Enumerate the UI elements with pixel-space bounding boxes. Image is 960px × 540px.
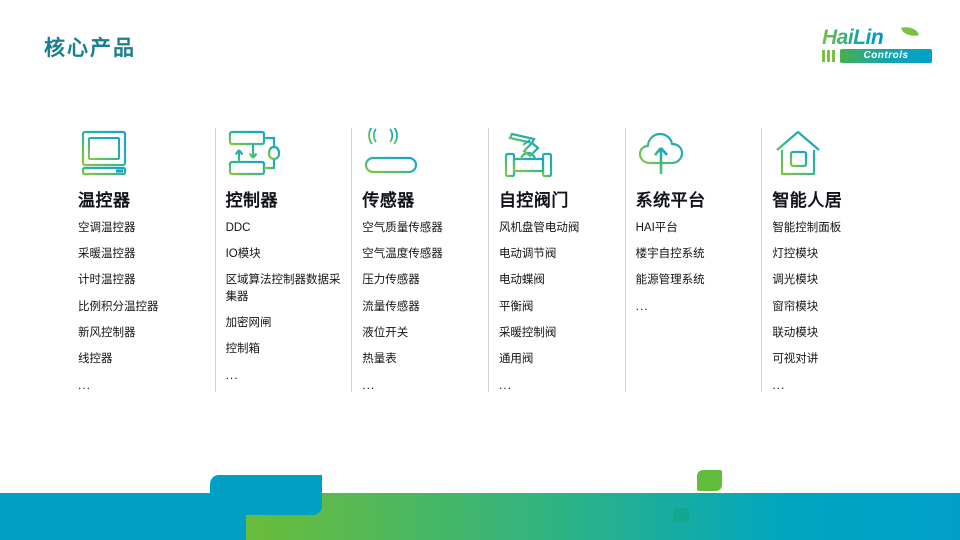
category-title: 自控阀门: [499, 192, 623, 211]
product-item[interactable]: 电动调节阀: [499, 246, 619, 262]
product-item[interactable]: 可视对讲: [772, 351, 892, 367]
product-item[interactable]: 智能控制面板: [772, 220, 892, 236]
leaf-icon: [901, 24, 919, 38]
page-title: 核心产品: [44, 38, 136, 59]
product-item[interactable]: 平衡阀: [499, 299, 619, 315]
product-item[interactable]: 比例积分温控器: [78, 299, 198, 315]
footer-green-square: [697, 470, 722, 491]
smart-home-chip-icon: [772, 128, 896, 186]
product-item[interactable]: IO模块: [226, 246, 346, 262]
logo-bars-icon: [822, 50, 835, 62]
category-column-controller[interactable]: 控制器 DDC IO模块 区域算法控制器数据采集器 加密网闸 控制箱 ...: [215, 128, 352, 392]
footer-small-teal-square: [673, 508, 689, 522]
product-item[interactable]: 采暖温控器: [78, 246, 198, 262]
more-indicator: ...: [636, 299, 760, 313]
logo-tagline-plate: Controls: [840, 49, 932, 63]
category-column-valve[interactable]: 自控阀门 风机盘管电动阀 电动调节阀 电动蝶阀 平衡阀 采暖控制阀 通用阀 ..…: [488, 128, 625, 392]
category-column-thermostat[interactable]: 温控器 空调温控器 采暖温控器 计时温控器 比例积分温控器 新风控制器 线控器 …: [78, 128, 215, 392]
category-title: 系统平台: [636, 192, 760, 211]
product-item[interactable]: 区域算法控制器数据采集器: [226, 272, 346, 305]
product-item[interactable]: 楼宇自控系统: [636, 246, 756, 262]
more-indicator: ...: [499, 378, 623, 392]
category-column-sensor[interactable]: 传感器 空气质量传感器 空气温度传感器 压力传感器 流量传感器 液位开关 热量表…: [351, 128, 488, 392]
product-item[interactable]: 新风控制器: [78, 325, 198, 341]
category-column-platform[interactable]: 系统平台 HAI平台 楼宇自控系统 能源管理系统 ...: [625, 128, 762, 392]
category-title: 控制器: [226, 192, 350, 211]
product-item[interactable]: DDC: [226, 220, 346, 236]
product-category-columns: 温控器 空调温控器 采暖温控器 计时温控器 比例积分温控器 新风控制器 线控器 …: [78, 128, 898, 392]
product-item[interactable]: 采暖控制阀: [499, 325, 619, 341]
control-valve-icon: [499, 128, 623, 186]
product-item[interactable]: 电动蝶阀: [499, 272, 619, 288]
category-title: 智能人居: [772, 192, 896, 211]
product-item[interactable]: HAI平台: [636, 220, 756, 236]
controller-rack-icon: [226, 128, 350, 186]
product-item[interactable]: 控制箱: [226, 341, 346, 357]
product-item[interactable]: 空调温控器: [78, 220, 198, 236]
product-item[interactable]: 空气质量传感器: [362, 220, 482, 236]
product-item[interactable]: 液位开关: [362, 325, 482, 341]
more-indicator: ...: [362, 378, 486, 392]
product-item[interactable]: 通用阀: [499, 351, 619, 367]
logo-tagline: Controls: [840, 49, 932, 63]
product-item[interactable]: 联动模块: [772, 325, 892, 341]
more-indicator: ...: [226, 368, 350, 382]
more-indicator: ...: [78, 378, 213, 392]
wireless-sensor-icon: [362, 128, 486, 186]
product-item[interactable]: 加密网闸: [226, 315, 346, 331]
product-item[interactable]: 灯控模块: [772, 246, 892, 262]
product-item[interactable]: 调光模块: [772, 272, 892, 288]
product-item[interactable]: 线控器: [78, 351, 198, 367]
footer-teal-tab: [210, 475, 322, 515]
thermostat-monitor-icon: [78, 128, 213, 186]
product-item[interactable]: 空气温度传感器: [362, 246, 482, 262]
category-column-smart-home[interactable]: 智能人居 智能控制面板 灯控模块 调光模块 窗帘模块 联动模块 可视对讲 ...: [761, 128, 898, 392]
product-item[interactable]: 窗帘模块: [772, 299, 892, 315]
product-item[interactable]: 流量传感器: [362, 299, 482, 315]
brand-logo: HaiLin Controls: [814, 27, 932, 69]
category-title: 温控器: [78, 192, 213, 211]
category-title: 传感器: [362, 192, 486, 211]
product-item[interactable]: 能源管理系统: [636, 272, 756, 288]
cloud-upload-icon: [636, 128, 760, 186]
product-item[interactable]: 计时温控器: [78, 272, 198, 288]
product-item[interactable]: 热量表: [362, 351, 482, 367]
logo-wordmark: HaiLin: [822, 27, 883, 48]
product-item[interactable]: 压力传感器: [362, 272, 482, 288]
more-indicator: ...: [772, 378, 896, 392]
product-item[interactable]: 风机盘管电动阀: [499, 220, 619, 236]
